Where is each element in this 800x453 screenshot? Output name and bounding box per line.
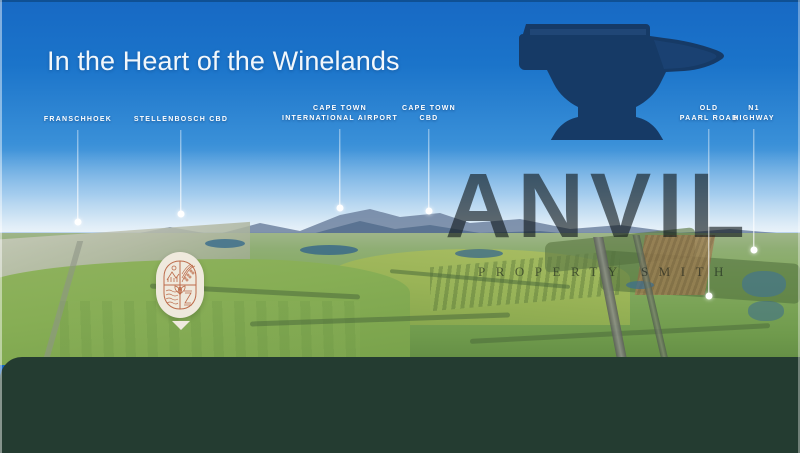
marker-label: STELLENBOSCH CBD: [134, 115, 228, 125]
marker-label: CAPE TOWNCBD: [402, 104, 456, 124]
marker-leader-line: [708, 129, 709, 296]
marker-dot: [75, 219, 82, 226]
crest-pointer-arrow: [172, 321, 190, 330]
dam-e: [742, 271, 786, 297]
marker-label: OLDPAARL ROAD: [680, 104, 739, 124]
page-title: In the Heart of the Winelands: [47, 46, 400, 77]
marker-leader-line: [428, 129, 429, 211]
aerial-landscape-photo: [0, 205, 800, 365]
dam-f: [748, 301, 784, 321]
winelands-hero-banner: ANVIL PROPERTY SMITH In the Heart of the…: [0, 0, 800, 453]
marker-leader-line: [339, 129, 340, 208]
marker-dot: [178, 211, 185, 218]
close-proximity-bar: CLOSE PROXIMITY TO CAPE TOWN SOMERSET WE…: [0, 357, 800, 453]
marker-leader-line: [180, 130, 181, 214]
marker-dot: [751, 247, 758, 254]
crest-badge[interactable]: [156, 252, 204, 318]
frame-edge-top: [0, 0, 800, 2]
dam-a: [205, 239, 245, 248]
marker-leader-line: [77, 130, 78, 222]
marker-dot: [337, 205, 344, 212]
marker-label: CAPE TOWNINTERNATIONAL AIRPORT: [282, 104, 398, 124]
marker-dot: [706, 293, 713, 300]
marker-leader-line: [753, 129, 754, 250]
marker-label: FRANSCHHOEK: [44, 115, 112, 125]
marker-label: N1HIGHWAY: [733, 104, 775, 124]
frame-edge-left: [0, 0, 2, 453]
field-rows: [60, 301, 360, 361]
dam-c: [455, 249, 503, 258]
marker-dot: [426, 208, 433, 215]
dam-b: [300, 245, 358, 255]
winelands-crest-icon: [163, 260, 197, 310]
